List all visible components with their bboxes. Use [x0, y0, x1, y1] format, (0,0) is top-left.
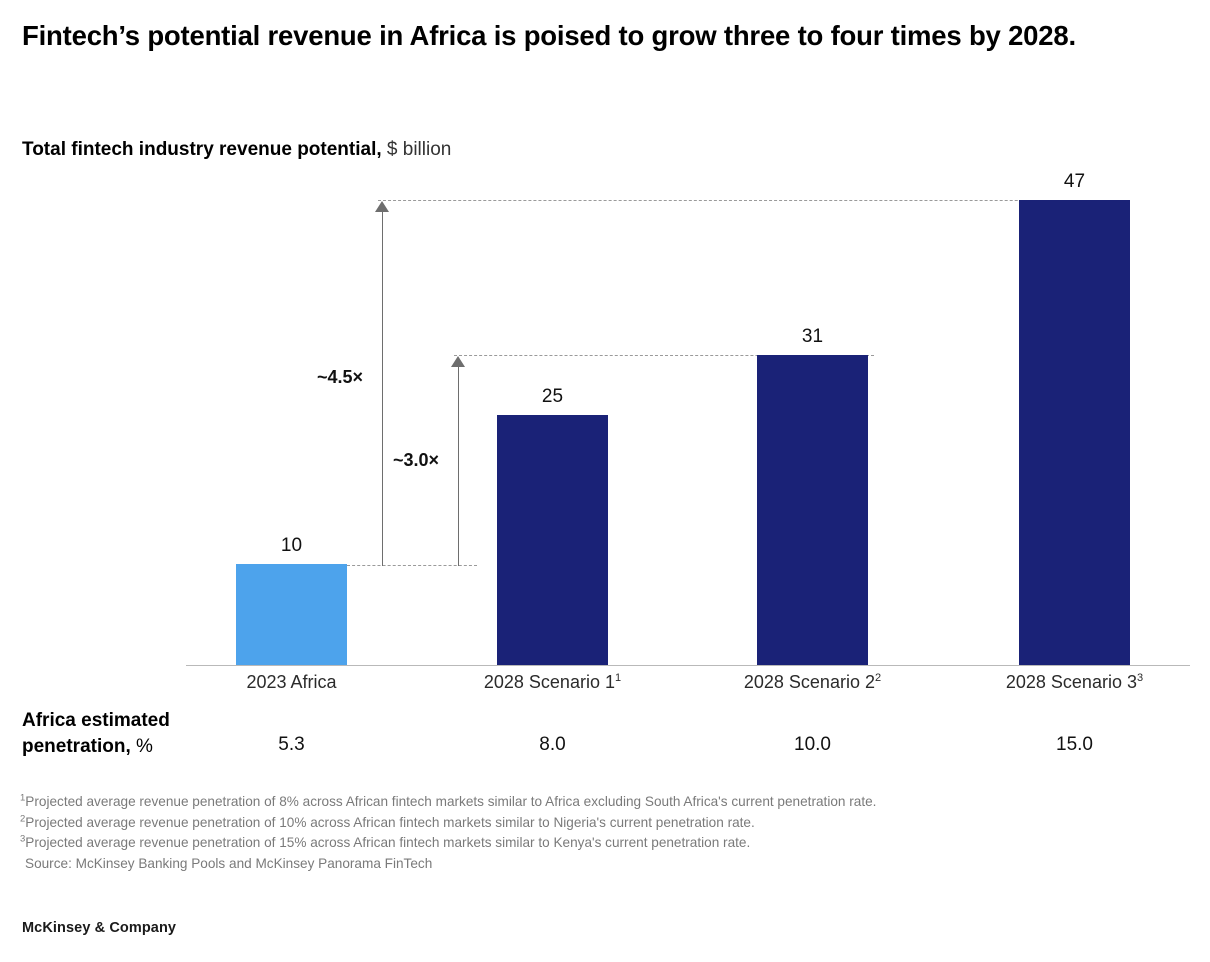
x-axis-label-2028-scenario-2: 2028 Scenario 22	[727, 672, 898, 693]
bar-value-2028-scenario-1: 25	[497, 386, 608, 408]
footnote-2: 2Projected average revenue penetration o…	[20, 813, 1190, 834]
bars-layer	[0, 0, 1210, 665]
bar-value-2028-scenario-2: 31	[757, 326, 868, 348]
bar-2028-scenario-2[interactable]	[757, 355, 868, 665]
bar-value-2028-scenario-3: 47	[1019, 171, 1130, 193]
source-line: Source: McKinsey Banking Pools and McKin…	[20, 854, 1190, 875]
footnote-1: 1Projected average revenue penetration o…	[20, 792, 1190, 813]
x-axis-label-2028-scenario-1: 2028 Scenario 11	[467, 672, 638, 693]
x-axis-line	[186, 665, 1190, 666]
bar-2028-scenario-3[interactable]	[1019, 200, 1130, 665]
penetration-value-2028-scenario-2: 10.0	[757, 734, 868, 756]
penetration-value-2028-scenario-3: 15.0	[1019, 734, 1130, 756]
bar-2023-africa[interactable]	[236, 564, 347, 665]
footnotes-block: 1Projected average revenue penetration o…	[20, 792, 1190, 875]
bar-value-2023-africa: 10	[236, 535, 347, 557]
x-axis-label-text-2: 2028 Scenario 2	[744, 672, 875, 692]
x-axis-footnote-marker-1: 1	[615, 672, 621, 684]
penetration-value-2028-scenario-1: 8.0	[497, 734, 608, 756]
penetration-row-label: Africa estimated penetration, %	[22, 708, 242, 759]
x-axis-label-text-1: 2028 Scenario 1	[484, 672, 615, 692]
x-axis-footnote-marker-2: 2	[875, 672, 881, 684]
x-axis-footnote-marker-3: 3	[1137, 672, 1143, 684]
bar-2028-scenario-1[interactable]	[497, 415, 608, 665]
brand-logo-mckinsey: McKinsey & Company	[22, 920, 176, 936]
footnote-text-3: Projected average revenue penetration of…	[25, 835, 750, 850]
footnote-text-1: Projected average revenue penetration of…	[25, 794, 876, 809]
x-axis-label-2023-africa: 2023 Africa	[206, 672, 377, 693]
penetration-value-2023-africa: 5.3	[236, 734, 347, 756]
footnote-text-2: Projected average revenue penetration of…	[25, 815, 754, 830]
x-axis-label-2028-scenario-3: 2028 Scenario 33	[989, 672, 1160, 693]
x-axis-label-text-0: 2023 Africa	[246, 672, 336, 692]
x-axis-label-text-3: 2028 Scenario 3	[1006, 672, 1137, 692]
bar-chart: ~4.5× ~3.0× 10 25 31 47 2023 Africa 2028…	[0, 0, 1210, 700]
footnote-3: 3Projected average revenue penetration o…	[20, 833, 1190, 854]
penetration-row-label-unit: %	[136, 736, 153, 757]
